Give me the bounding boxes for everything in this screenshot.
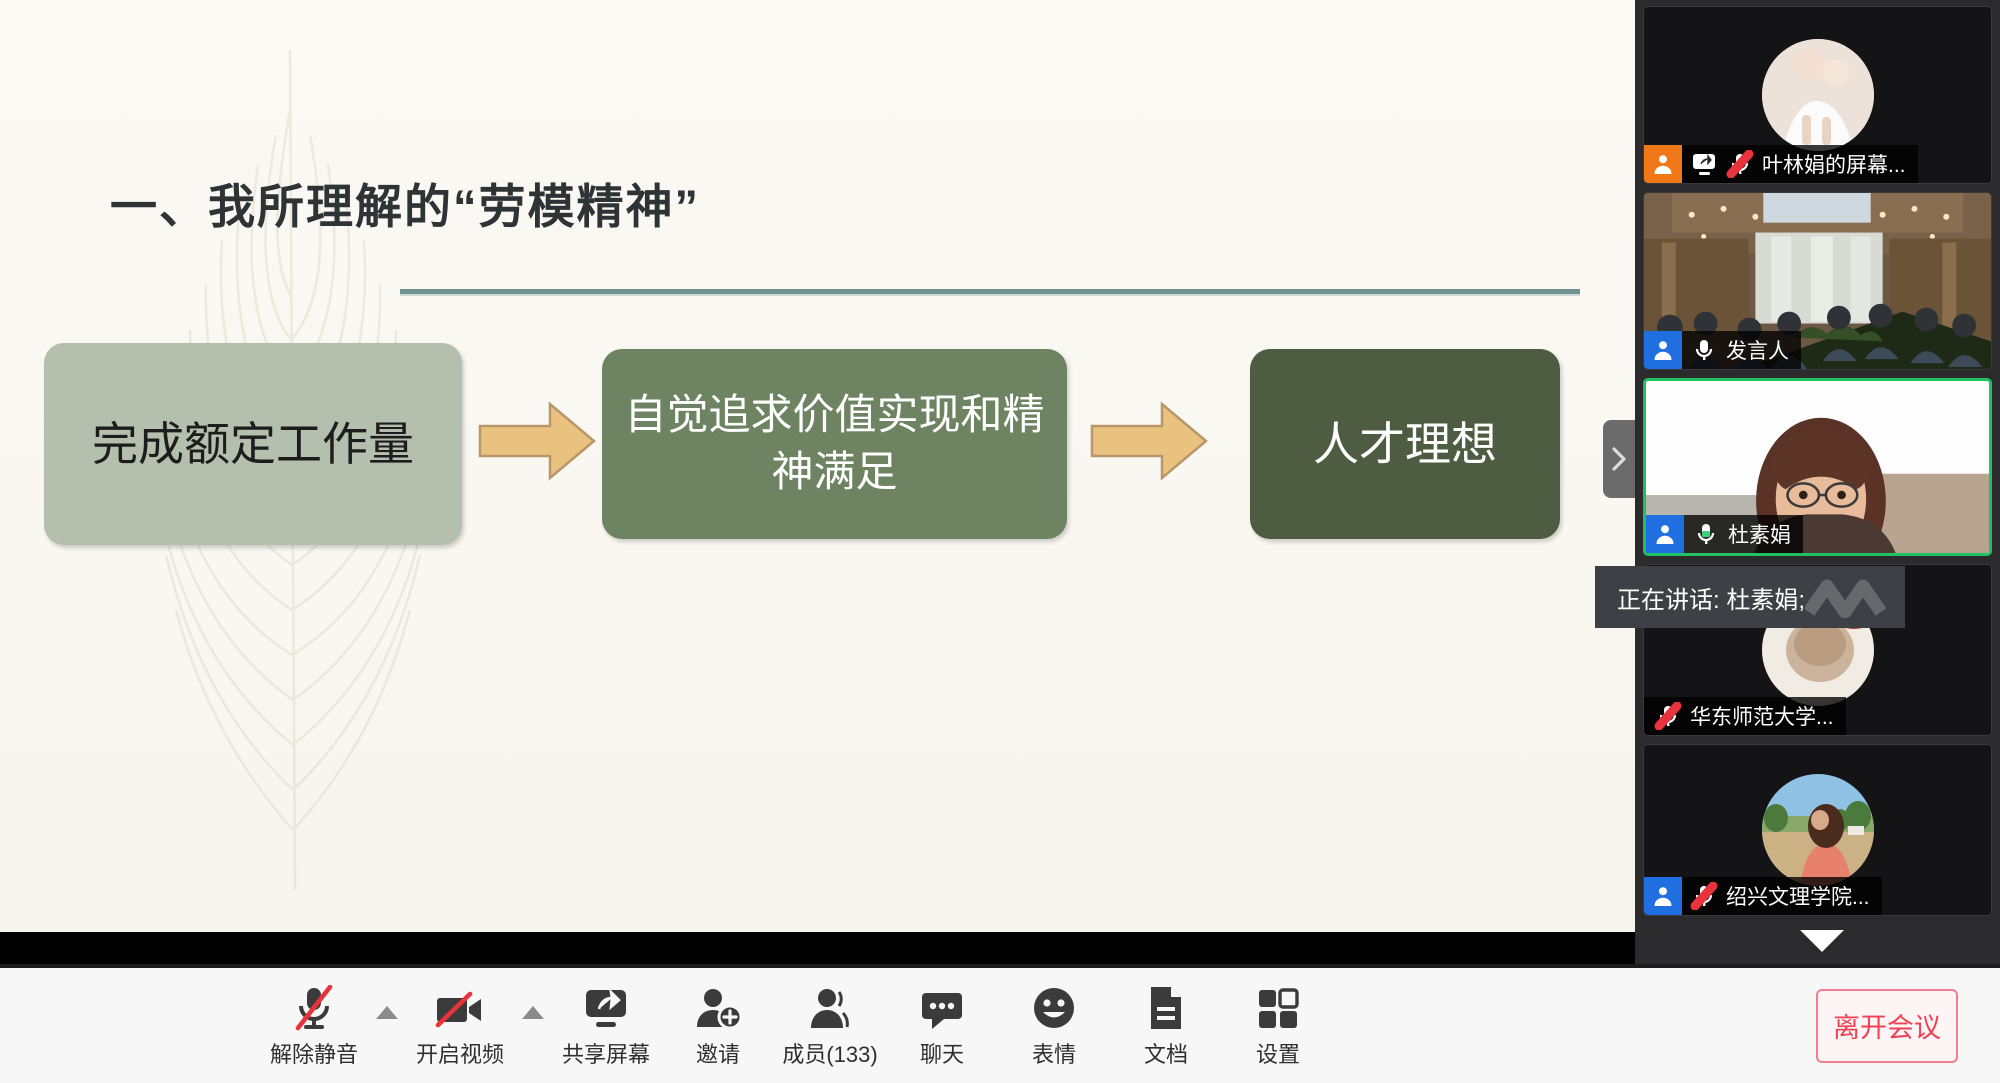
tile-namebar: 杜素娟	[1646, 515, 1803, 553]
toolbar-button-unmute[interactable]: 解除静音	[258, 968, 370, 1083]
toolbar-label: 设置	[1256, 1037, 1300, 1069]
meeting-toolbar: 解除静音 开启视频	[0, 968, 2000, 1083]
toolbar-button-reactions[interactable]: 表情	[998, 968, 1110, 1083]
mic-options-caret[interactable]	[370, 968, 404, 1083]
grid-icon	[1256, 983, 1300, 1031]
mic-muted-icon	[1726, 150, 1754, 178]
mic-muted-icon	[1690, 882, 1718, 910]
toolbar-button-chat[interactable]: 聊天	[886, 968, 998, 1083]
tile-namebar: 叶林娟的屏幕...	[1644, 145, 1918, 183]
collapse-panel-button[interactable]	[1603, 420, 1635, 498]
screen-share-icon	[1690, 150, 1718, 178]
toolbar-button-documents[interactable]: 文档	[1110, 968, 1222, 1083]
mic-on-icon	[1692, 520, 1720, 548]
chevron-right-icon	[1609, 444, 1629, 474]
toolbar-label: 共享屏幕	[562, 1037, 650, 1069]
video-tile[interactable]: 发言人	[1643, 192, 1992, 370]
mic-muted-icon	[292, 983, 336, 1031]
caret-up-icon	[522, 1006, 544, 1019]
person-glyph-icon	[1653, 522, 1677, 546]
toolbar-label: 文档	[1144, 1037, 1188, 1069]
toolbar-button-share-screen[interactable]: 共享屏幕	[550, 968, 662, 1083]
flow-arrow-2	[1090, 398, 1208, 484]
tile-name: 华东师范大学...	[1690, 701, 1834, 731]
presentation-slide: 一、我所理解的“劳模精神” 完成额定工作量 自觉追求价值实现和精神满足 人才理想	[0, 0, 1635, 932]
title-underline	[400, 289, 1580, 294]
video-options-caret[interactable]	[516, 968, 550, 1083]
participant-icon	[1644, 145, 1682, 183]
toolbar-label: 解除静音	[270, 1037, 358, 1069]
toolbar-button-start-video[interactable]: 开启视频	[404, 968, 516, 1083]
toolbar-label: 聊天	[920, 1037, 964, 1069]
participant-icon	[1644, 331, 1682, 369]
video-tile[interactable]: 绍兴文理学院...	[1643, 744, 1992, 916]
scroll-down-indicator[interactable]	[1800, 930, 1844, 952]
document-icon	[1146, 983, 1186, 1031]
tile-name: 绍兴文理学院...	[1726, 881, 1870, 911]
slide-letterbox	[0, 932, 1635, 964]
participant-icon	[1646, 515, 1684, 553]
toolbar-button-invite[interactable]: 邀请	[662, 968, 774, 1083]
participant-icon	[1644, 877, 1682, 915]
avatar-photo	[1762, 774, 1874, 886]
flow-box-3: 人才理想	[1250, 349, 1560, 539]
flow-box-1: 完成额定工作量	[44, 343, 462, 545]
toolbar-label: 开启视频	[416, 1037, 504, 1069]
participants-icon	[806, 983, 854, 1031]
toolbar-label: 表情	[1032, 1037, 1076, 1069]
speaking-now-toast: 正在讲话: 杜素娟;	[1595, 566, 1905, 628]
avatar	[1762, 774, 1874, 886]
shared-screen-area[interactable]: 一、我所理解的“劳模精神” 完成额定工作量 自觉追求价值实现和精神满足 人才理想	[0, 0, 1635, 932]
person-glyph-icon	[1651, 152, 1675, 176]
tile-namebar: 发言人	[1644, 331, 1801, 369]
flow-arrow-1	[478, 398, 596, 484]
video-tile-active-speaker[interactable]: 杜素娟	[1643, 378, 1992, 556]
tile-name: 发言人	[1726, 335, 1789, 365]
video-off-icon	[434, 983, 486, 1031]
slide-title: 一、我所理解的“劳模精神”	[110, 168, 700, 237]
meeting-window: 一、我所理解的“劳模精神” 完成额定工作量 自觉追求价值实现和精神满足 人才理想	[0, 0, 2000, 1083]
toolbar-button-participants[interactable]: 成员(133)	[774, 968, 886, 1083]
avatar-photo	[1762, 39, 1874, 151]
add-user-icon	[694, 983, 742, 1031]
tile-namebar: 绍兴文理学院...	[1644, 877, 1882, 915]
mic-on-icon	[1690, 336, 1718, 364]
flow-box-2: 自觉追求价值实现和精神满足	[602, 349, 1067, 539]
caret-up-icon	[376, 1006, 398, 1019]
person-glyph-icon	[1651, 884, 1675, 908]
toolbar-label: 邀请	[696, 1037, 740, 1069]
video-tile[interactable]: 叶林娟的屏幕...	[1643, 6, 1992, 184]
screen-share-icon	[582, 983, 630, 1031]
avatar	[1762, 39, 1874, 151]
toolbar-buttons: 解除静音 开启视频	[0, 968, 1334, 1083]
toolbar-label: 成员(133)	[782, 1037, 877, 1069]
toolbar-button-settings[interactable]: 设置	[1222, 968, 1334, 1083]
chevron-watermark-icon	[1805, 578, 1891, 618]
tile-name: 杜素娟	[1728, 519, 1791, 549]
mic-muted-icon	[1654, 702, 1682, 730]
tile-name: 叶林娟的屏幕...	[1762, 149, 1906, 179]
speaking-now-text: 正在讲话: 杜素娟;	[1617, 580, 1805, 615]
participant-video-strip[interactable]: 叶林娟的屏幕...	[1635, 0, 2000, 964]
chat-icon	[918, 983, 966, 1031]
person-glyph-icon	[1651, 338, 1675, 362]
smiley-icon	[1031, 983, 1077, 1031]
tile-namebar: 华东师范大学...	[1644, 697, 1846, 735]
leave-meeting-button[interactable]: 离开会议	[1816, 989, 1958, 1063]
